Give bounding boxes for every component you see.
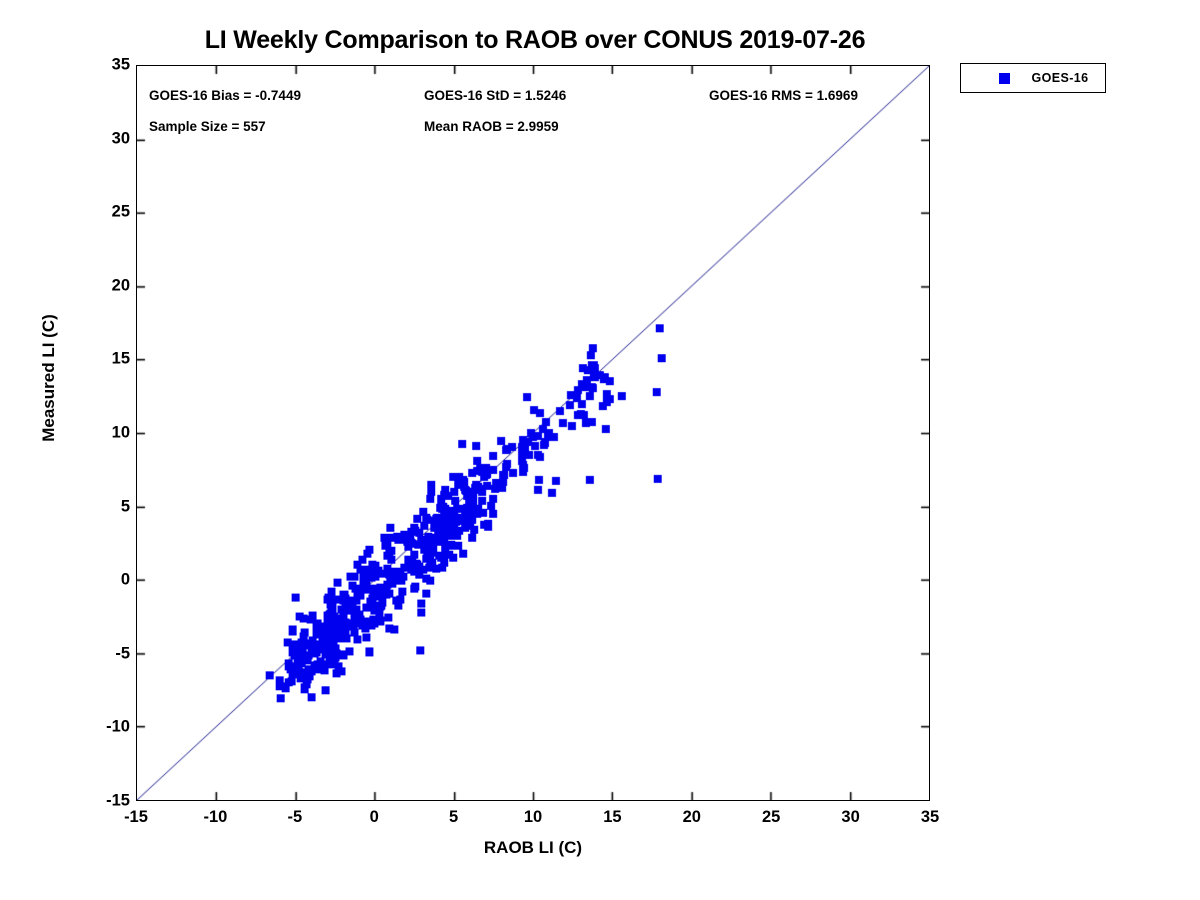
- y-axis-title: Measured LI (C): [39, 298, 59, 458]
- y-tick-label: 10: [74, 424, 130, 443]
- x-tick-label: 30: [811, 808, 891, 827]
- x-tick-label: 0: [334, 808, 414, 827]
- y-tick-label: 15: [74, 350, 130, 369]
- legend: GOES-16: [960, 63, 1106, 93]
- x-tick-label: 20: [652, 808, 732, 827]
- x-tick-label: 10: [493, 808, 573, 827]
- y-tick-label: -10: [74, 718, 130, 737]
- x-tick-label: 35: [890, 808, 970, 827]
- y-tick-label: 30: [74, 129, 130, 148]
- y-axis-tick-labels: -15-10-505101520253035: [70, 0, 130, 900]
- plot-area: [136, 65, 930, 801]
- x-tick-label: 25: [731, 808, 811, 827]
- legend-marker-icon: [999, 73, 1010, 84]
- y-tick-label: 20: [74, 276, 130, 295]
- scatter-plot-figure: LI Weekly Comparison to RAOB over CONUS …: [0, 0, 1200, 900]
- x-axis-title: RAOB LI (C): [136, 838, 930, 858]
- x-tick-label: -5: [255, 808, 335, 827]
- x-tick-label: -10: [175, 808, 255, 827]
- y-tick-label: 5: [74, 497, 130, 516]
- legend-item-label: GOES-16: [1019, 71, 1101, 85]
- x-tick-label: -15: [96, 808, 176, 827]
- x-tick-label: 5: [414, 808, 494, 827]
- y-tick-label: 35: [74, 56, 130, 75]
- page-title: LI Weekly Comparison to RAOB over CONUS …: [0, 26, 1070, 55]
- y-tick-label: -5: [74, 644, 130, 663]
- y-tick-label: 0: [74, 571, 130, 590]
- x-tick-label: 15: [572, 808, 652, 827]
- x-axis-tick-labels: -15-10-505101520253035: [0, 808, 1200, 838]
- y-tick-label: 25: [74, 203, 130, 222]
- scatter-canvas: [137, 66, 929, 800]
